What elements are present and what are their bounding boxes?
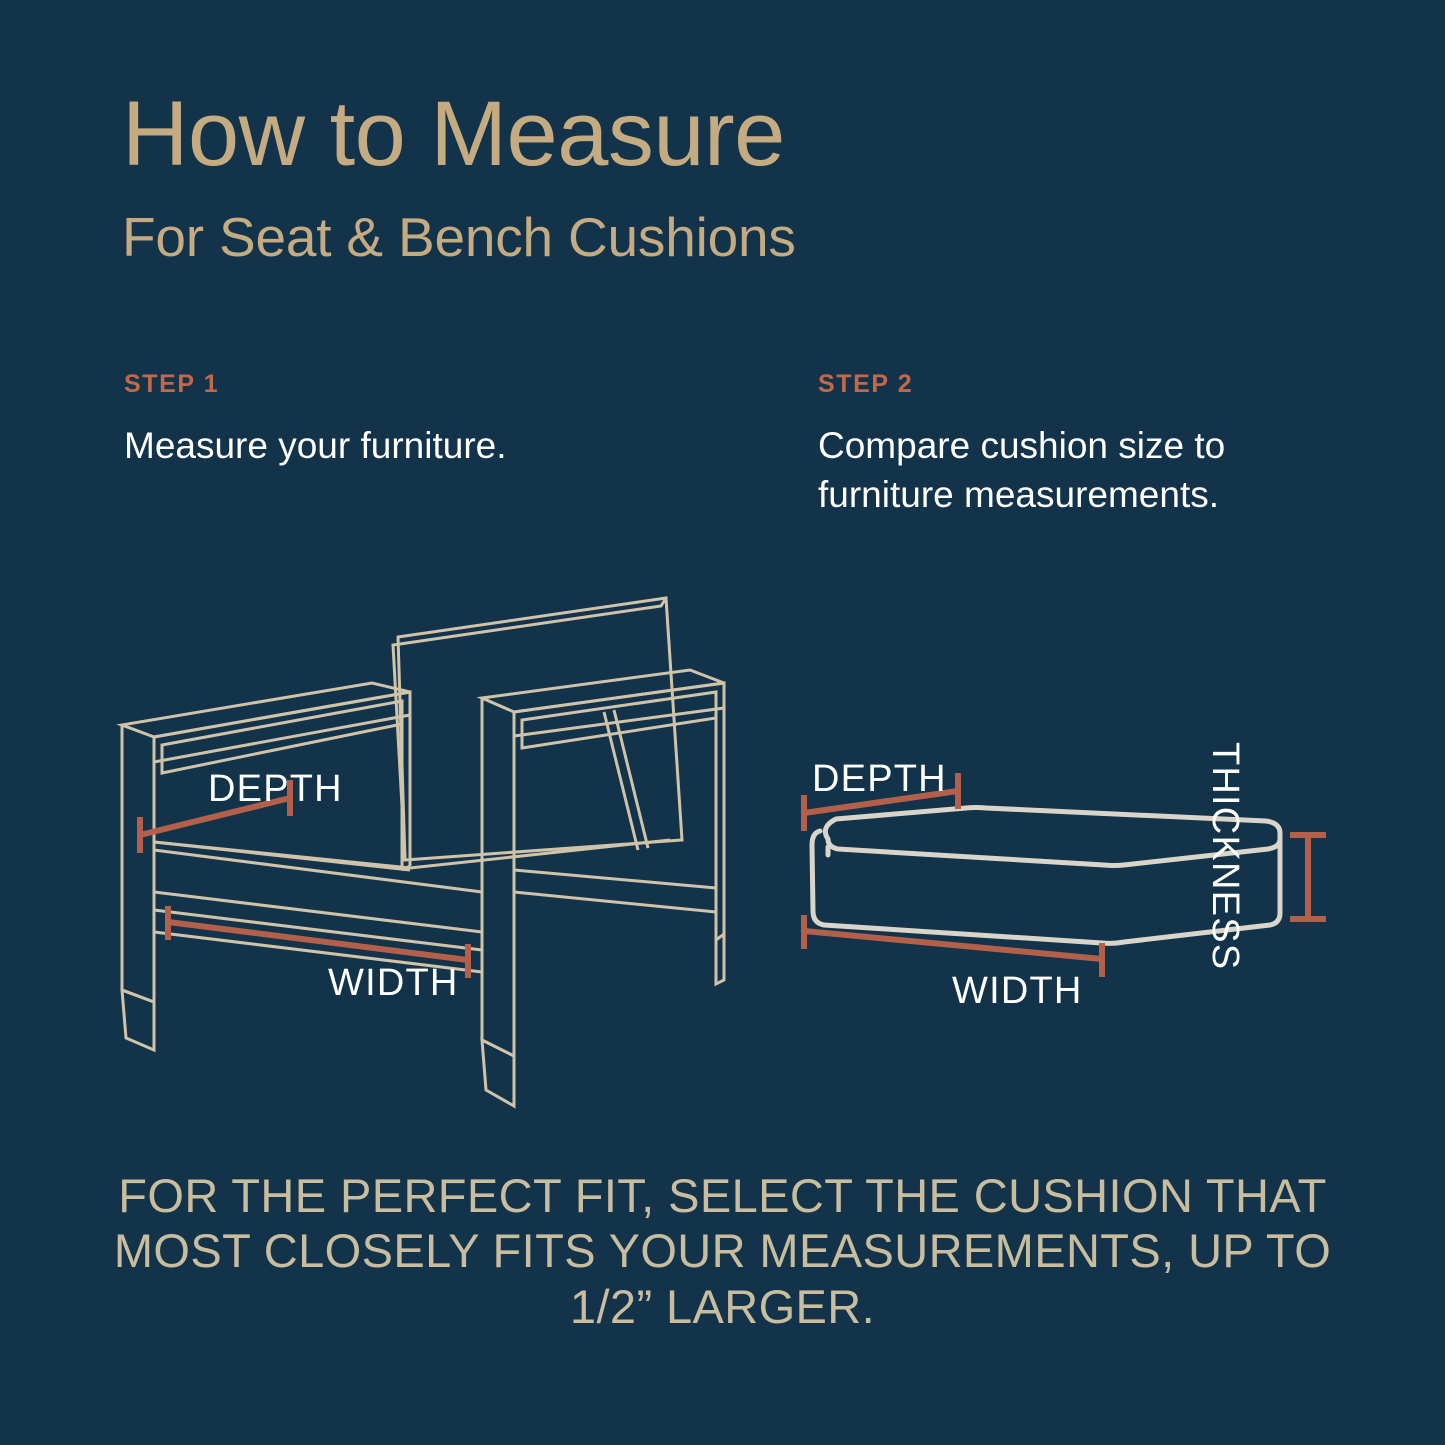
step-1-text: Measure your furniture. xyxy=(124,421,724,470)
page-title: How to Measure xyxy=(122,88,1322,180)
cushion-width-label: WIDTH xyxy=(952,970,1083,1013)
chair-depth-label: DEPTH xyxy=(208,768,343,811)
chair-diagram-icon xyxy=(110,540,750,1100)
page-subtitle: For Seat & Bench Cushions xyxy=(122,210,1322,265)
step-2-text: Compare cushion size to furniture measur… xyxy=(818,421,1338,519)
step-2-block: STEP 2 Compare cushion size to furniture… xyxy=(818,370,1338,519)
cushion-depth-label: DEPTH xyxy=(812,758,947,801)
infographic-page: How to Measure For Seat & Bench Cushions… xyxy=(0,0,1445,1445)
header: How to Measure For Seat & Bench Cushions xyxy=(122,88,1322,265)
chair-width-label: WIDTH xyxy=(328,962,459,1005)
step-1-kicker: STEP 1 xyxy=(124,370,724,399)
step-1-block: STEP 1 Measure your furniture. xyxy=(124,370,724,470)
footer-note: FOR THE PERFECT FIT, SELECT THE CUSHION … xyxy=(0,1168,1445,1334)
cushion-thickness-label: THICKNESS xyxy=(1203,742,1246,970)
step-2-kicker: STEP 2 xyxy=(818,370,1338,399)
